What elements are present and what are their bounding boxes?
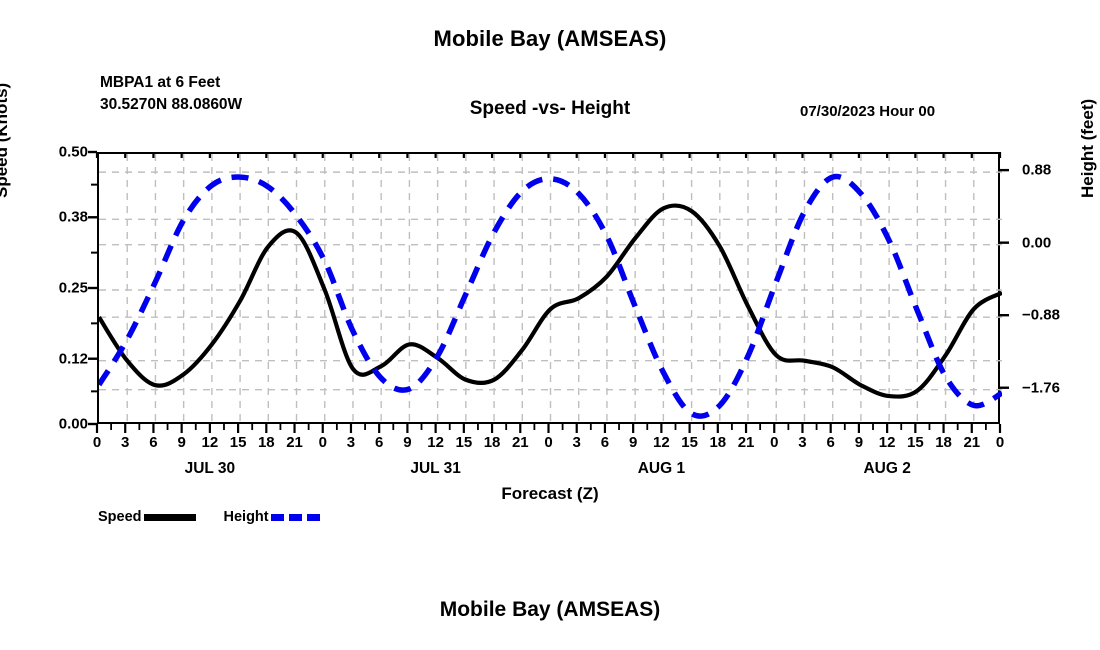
x-tick-label: 0 <box>93 434 101 451</box>
legend-swatch-height-line <box>271 514 323 521</box>
y-tick-label-left: 0.25 <box>59 280 88 297</box>
x-tick-label: 0 <box>544 434 552 451</box>
chart-page: Mobile Bay (AMSEAS) MBPA1 at 6 Feet 30.5… <box>0 0 1100 650</box>
x-axis-title: Forecast (Z) <box>0 484 1100 504</box>
model-run-label: 07/30/2023 Hour 00 <box>800 103 935 120</box>
page-title-bottom: Mobile Bay (AMSEAS) <box>0 598 1100 622</box>
x-tick-label: 6 <box>149 434 157 451</box>
x-tick-label: 3 <box>798 434 806 451</box>
x-tick-label: 6 <box>375 434 383 451</box>
legend-swatch-speed-line <box>144 514 196 521</box>
x-tick-label: 15 <box>456 434 473 451</box>
y-axis-left-label: Speed (Knots) <box>0 83 12 198</box>
legend-item-height: Height <box>224 509 323 525</box>
x-axis-day-label: AUG 2 <box>863 460 910 478</box>
x-tick-label: 15 <box>230 434 247 451</box>
x-axis-day-label: AUG 1 <box>638 460 685 478</box>
x-tick-label: 21 <box>963 434 980 451</box>
x-tick-label: 3 <box>121 434 129 451</box>
x-tick-label: 15 <box>907 434 924 451</box>
legend-label-speed: Speed <box>98 509 142 525</box>
x-axis-day-label: JUL 30 <box>185 460 236 478</box>
y-tick-label-right: −1.76 <box>1022 379 1060 396</box>
y-tick-label-right: 0.00 <box>1022 234 1051 251</box>
x-tick-label: 0 <box>770 434 778 451</box>
x-tick-label: 21 <box>286 434 303 451</box>
x-tick-label: 9 <box>629 434 637 451</box>
x-tick-label: 12 <box>202 434 219 451</box>
y-tick-label-left: 0.38 <box>59 209 88 226</box>
x-tick-label: 3 <box>347 434 355 451</box>
legend-label-height: Height <box>224 509 269 525</box>
x-tick-label: 12 <box>879 434 896 451</box>
y-tick-label-right: −0.88 <box>1022 307 1060 324</box>
x-tick-label: 6 <box>827 434 835 451</box>
x-tick-label: 21 <box>738 434 755 451</box>
x-tick-label: 12 <box>427 434 444 451</box>
y-axis-right-label: Height (feet) <box>1078 99 1098 198</box>
y-tick-label-left: 0.50 <box>59 144 88 161</box>
y-tick-label-left: 0.00 <box>59 416 88 433</box>
plot-area <box>97 152 1000 424</box>
y-tick-label-right: 0.88 <box>1022 162 1051 179</box>
x-tick-label: 12 <box>653 434 670 451</box>
y-tick-label-left: 0.12 <box>59 350 88 367</box>
x-tick-label: 9 <box>403 434 411 451</box>
x-tick-label: 9 <box>177 434 185 451</box>
chart-legend: Speed Height <box>98 509 323 525</box>
x-axis-day-label: JUL 31 <box>410 460 461 478</box>
station-line: MBPA1 at 6 Feet <box>100 72 242 94</box>
x-tick-label: 0 <box>996 434 1004 451</box>
x-tick-label: 18 <box>709 434 726 451</box>
x-tick-label: 18 <box>935 434 952 451</box>
x-tick-label: 18 <box>258 434 275 451</box>
x-tick-label: 0 <box>319 434 327 451</box>
x-tick-label: 18 <box>484 434 501 451</box>
x-tick-label: 6 <box>601 434 609 451</box>
plot-canvas <box>99 154 1002 426</box>
x-tick-label: 15 <box>681 434 698 451</box>
legend-item-speed: Speed <box>98 509 196 525</box>
page-title-top: Mobile Bay (AMSEAS) <box>0 26 1100 52</box>
x-tick-label: 3 <box>573 434 581 451</box>
x-tick-label: 9 <box>855 434 863 451</box>
x-tick-label: 21 <box>512 434 529 451</box>
